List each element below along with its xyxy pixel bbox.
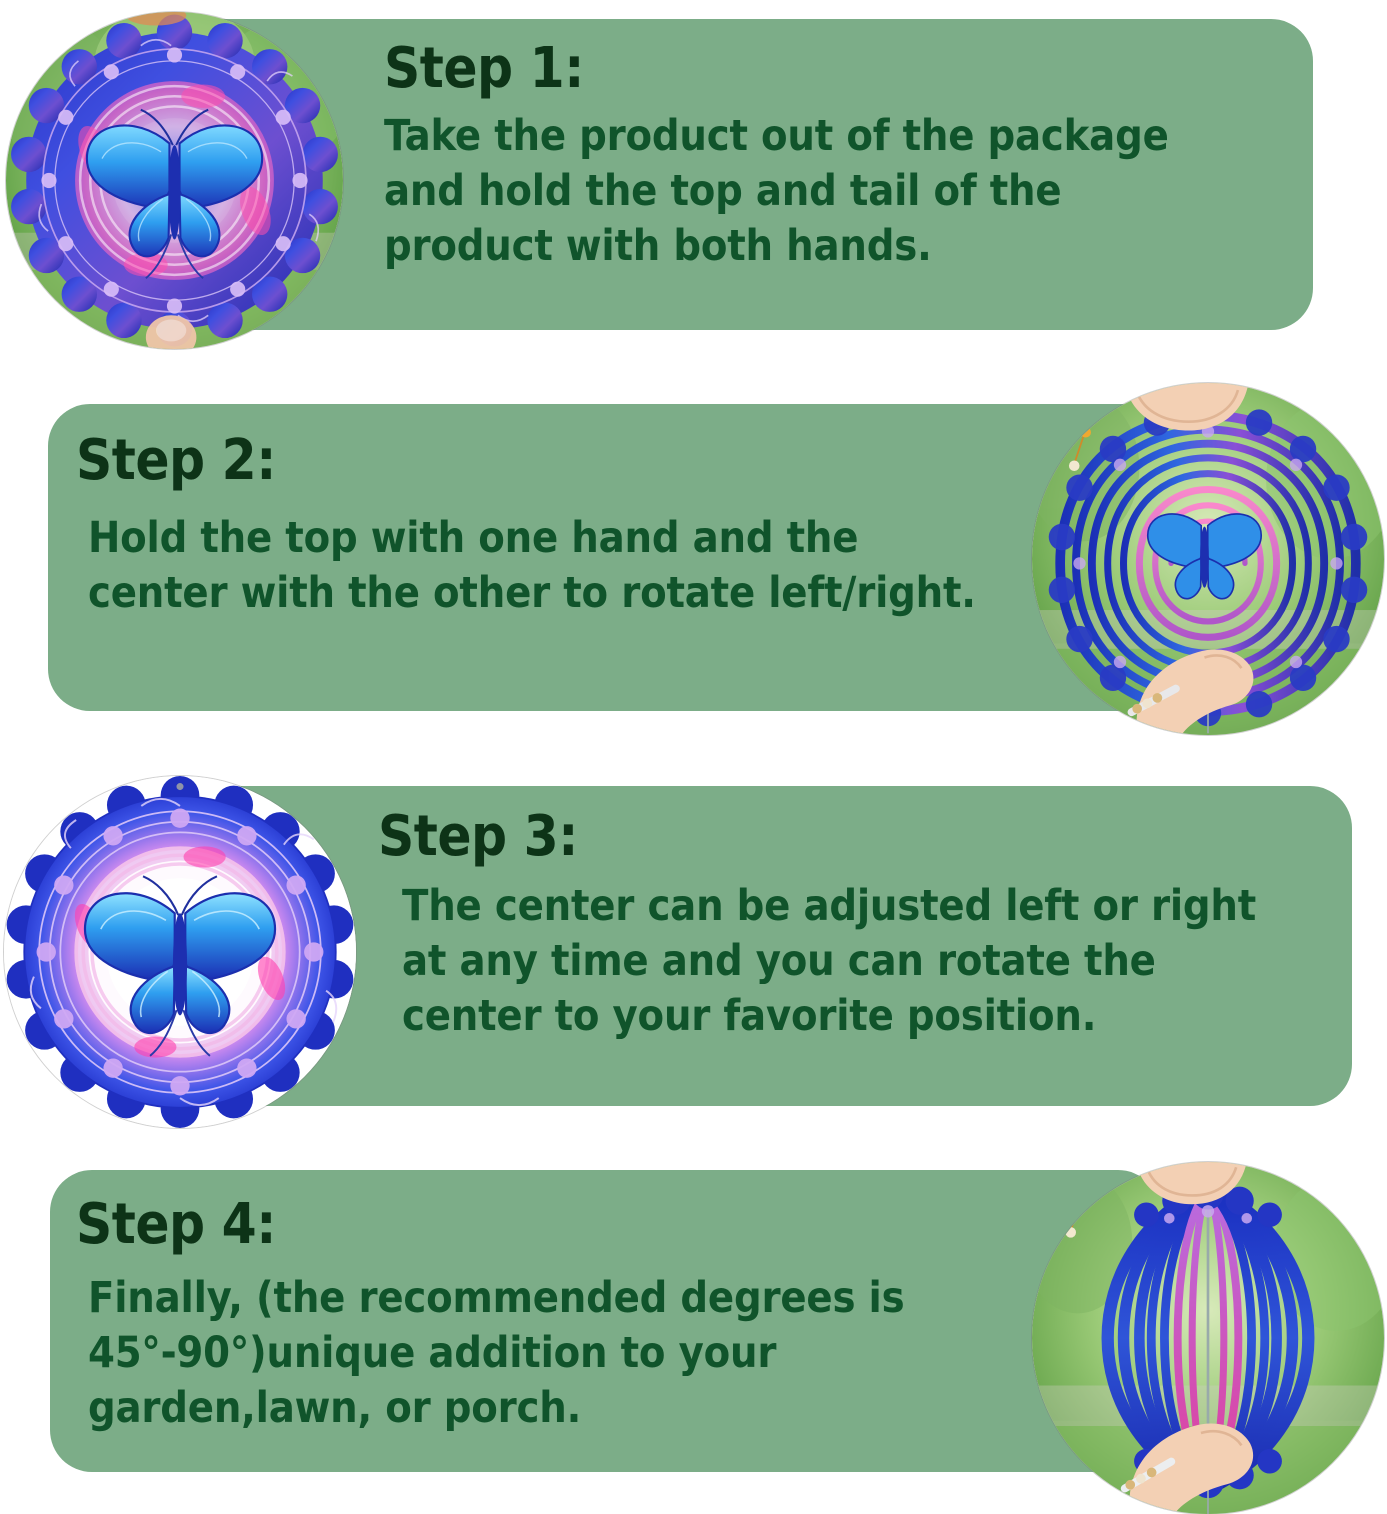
step-3-text-block: Step 3: The center can be adjusted left … [378, 808, 1256, 1044]
step-2-product-photo [1032, 383, 1384, 735]
instruction-graphic: Step 1: Take the product out of the pack… [0, 0, 1387, 1500]
step-3-body-line-2: at any time and you can rotate the [402, 934, 1256, 989]
step-4-body-line-3: garden,lawn, or porch. [88, 1381, 904, 1436]
step-4-body: Finally, (the recommended degrees is 45°… [88, 1271, 904, 1436]
step-1-body-line-1: Take the product out of the package [384, 109, 1169, 164]
step-3-product-photo [4, 776, 356, 1128]
step-2-text-block: Step 2: Hold the top with one hand and t… [76, 432, 976, 621]
step-4-text-block: Step 4: Finally, (the recommended degree… [76, 1196, 904, 1436]
step-4-body-line-2: 45°-90°)unique addition to your [88, 1326, 904, 1381]
step-1-product-photo [6, 12, 343, 349]
step-2-heading: Step 2: [76, 432, 976, 489]
step-3-body-line-1: The center can be adjusted left or right [402, 879, 1256, 934]
step-2-body: Hold the top with one hand and the cente… [88, 511, 976, 621]
step-4-product-photo [1032, 1162, 1384, 1514]
step-1-body-line-3: product with both hands. [384, 219, 1169, 274]
step-2-body-line-1: Hold the top with one hand and the [88, 511, 976, 566]
step-1-body: Take the product out of the package and … [384, 109, 1169, 274]
step-1-body-line-2: and hold the top and tail of the [384, 164, 1169, 219]
step-3-body: The center can be adjusted left or right… [402, 879, 1256, 1044]
step-3-body-line-3: center to your favorite position. [402, 989, 1256, 1044]
step-1-text-block: Step 1: Take the product out of the pack… [384, 40, 1169, 274]
step-4-heading: Step 4: [76, 1196, 904, 1253]
step-1-heading: Step 1: [384, 40, 1169, 97]
step-4-body-line-1: Finally, (the recommended degrees is [88, 1271, 904, 1326]
step-3-heading: Step 3: [378, 808, 1256, 865]
step-2-body-line-2: center with the other to rotate left/rig… [88, 566, 976, 621]
